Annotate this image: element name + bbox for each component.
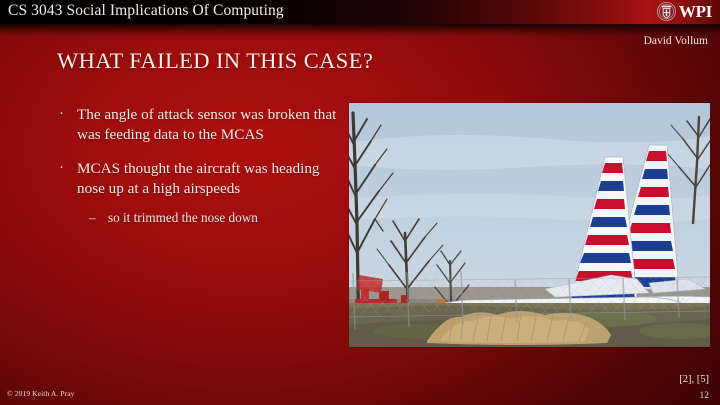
slide-photo: American American: [349, 103, 710, 347]
presentation-slide: CS 3043 Social Implications Of Computing…: [0, 0, 720, 405]
bullet-item: · The angle of attack sensor was broken …: [56, 105, 344, 144]
airliners-photo-illustration: American American: [349, 103, 710, 347]
bullet-marker: ·: [59, 159, 64, 179]
author-name: David Vollum: [644, 35, 708, 47]
wpi-logo: WPI: [657, 2, 712, 21]
slide-title: WHAT FAILED IN THIS CASE?: [57, 48, 373, 74]
header-gradient-fade: [0, 24, 720, 40]
bullet-text: MCAS thought the aircraft was heading no…: [77, 160, 320, 197]
citation-reference: [2], [5]: [679, 374, 709, 385]
sub-bullet-marker: –: [89, 209, 96, 227]
sub-bullet-text: so it trimmed the nose down: [108, 210, 258, 225]
wpi-seal-icon: [657, 2, 676, 21]
bullet-marker: ·: [59, 105, 64, 125]
sub-bullet-item: – so it trimmed the nose down: [56, 209, 344, 227]
copyright-notice: © 2019 Keith A. Pray: [7, 389, 75, 398]
course-title: CS 3043 Social Implications Of Computing: [8, 2, 284, 20]
wpi-logo-text: WPI: [679, 2, 712, 21]
bullet-item: · MCAS thought the aircraft was heading …: [56, 159, 344, 198]
bullet-text: The angle of attack sensor was broken th…: [77, 106, 336, 143]
slide-body: · The angle of attack sensor was broken …: [56, 105, 344, 227]
page-number: 12: [700, 391, 710, 401]
